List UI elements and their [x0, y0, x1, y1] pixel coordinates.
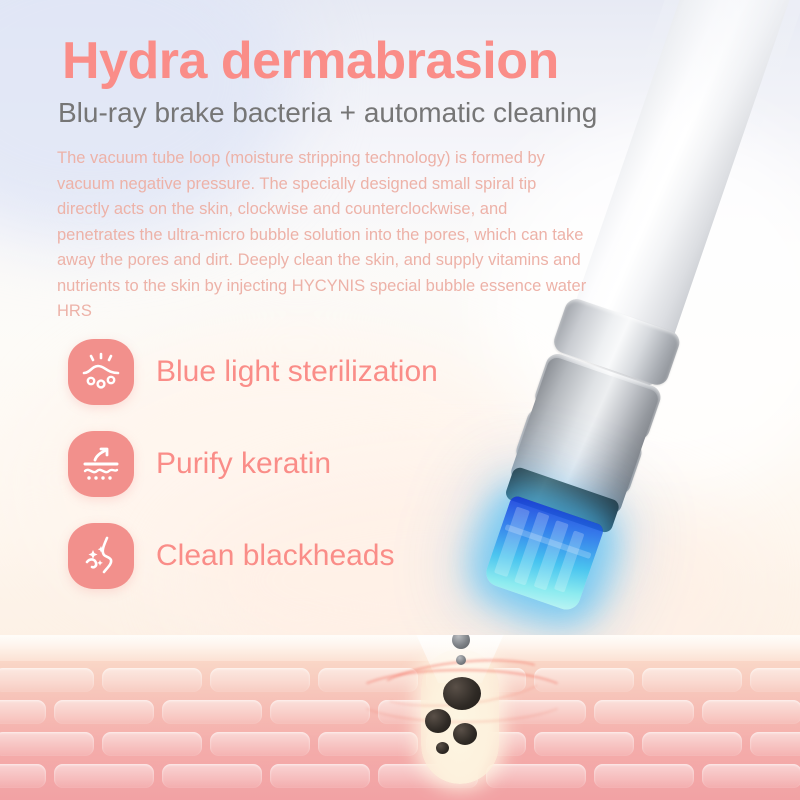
skin-layer-arrow-icon: [68, 431, 134, 497]
feature-label: Clean blackheads: [156, 539, 395, 573]
page-title: Hydra dermabrasion: [62, 34, 559, 89]
skin-cell-row: [0, 761, 800, 791]
feature-list: Blue light sterilization Puri: [68, 326, 438, 602]
feature-item-blue-light-sterilization: Blue light sterilization: [68, 326, 438, 418]
device-handle-fade: [628, 0, 800, 150]
face-profile-sparkle-icon: [68, 523, 134, 589]
page-subtitle: Blu-ray brake bacteria + automatic clean…: [58, 96, 597, 130]
feature-item-clean-blackheads: Clean blackheads: [68, 510, 438, 602]
device-handle: [556, 0, 800, 391]
blackhead: [453, 723, 477, 745]
device-barrel: [508, 355, 660, 516]
device-grip-ring-3: [513, 406, 645, 498]
skin-cell-row: [0, 729, 800, 759]
device-grip-ring-2: [532, 351, 664, 443]
description-paragraph: The vacuum tube loop (moisture stripping…: [57, 146, 587, 325]
blackhead: [436, 742, 449, 754]
skin-cross-section-illustration: [0, 635, 800, 800]
device-blue-light-tip: [482, 494, 605, 613]
skin-light-rays-icon: [68, 339, 134, 405]
extracted-particle: [456, 655, 466, 665]
device-collar-ring: [504, 466, 621, 535]
blackhead: [443, 677, 481, 710]
feature-label: Blue light sterilization: [156, 355, 438, 389]
feature-item-purify-keratin: Purify keratin: [68, 418, 438, 510]
feature-label: Purify keratin: [156, 447, 331, 481]
blackhead: [425, 709, 451, 733]
skin-surface-layer: [0, 635, 800, 661]
product-poster: Hydra dermabrasion Blu-ray brake bacteri…: [0, 0, 800, 800]
